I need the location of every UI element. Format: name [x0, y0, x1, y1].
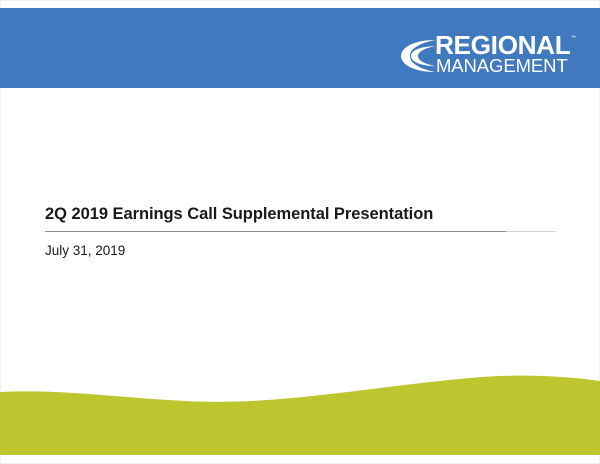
trademark-symbol: ™ — [571, 36, 576, 41]
title-block: 2Q 2019 Earnings Call Supplemental Prese… — [45, 203, 565, 260]
title-divider — [45, 231, 556, 233]
divider-segment-light — [506, 231, 556, 232]
regional-management-logo: REGIONAL ™ MANAGEMENT — [399, 35, 571, 77]
header-band: REGIONAL ™ MANAGEMENT — [0, 8, 600, 88]
logo-line2: MANAGEMENT — [436, 56, 568, 75]
presentation-slide: REGIONAL ™ MANAGEMENT 2Q 2019 Earnings C… — [0, 0, 600, 464]
divider-segment-dark — [45, 231, 506, 232]
slide-date: July 31, 2019 — [45, 242, 565, 260]
logo-wordmark: REGIONAL ™ MANAGEMENT — [435, 35, 571, 77]
green-wave-graphic — [0, 370, 600, 455]
page-title: 2Q 2019 Earnings Call Supplemental Prese… — [45, 203, 565, 225]
arc-swoosh-icon — [399, 37, 439, 75]
